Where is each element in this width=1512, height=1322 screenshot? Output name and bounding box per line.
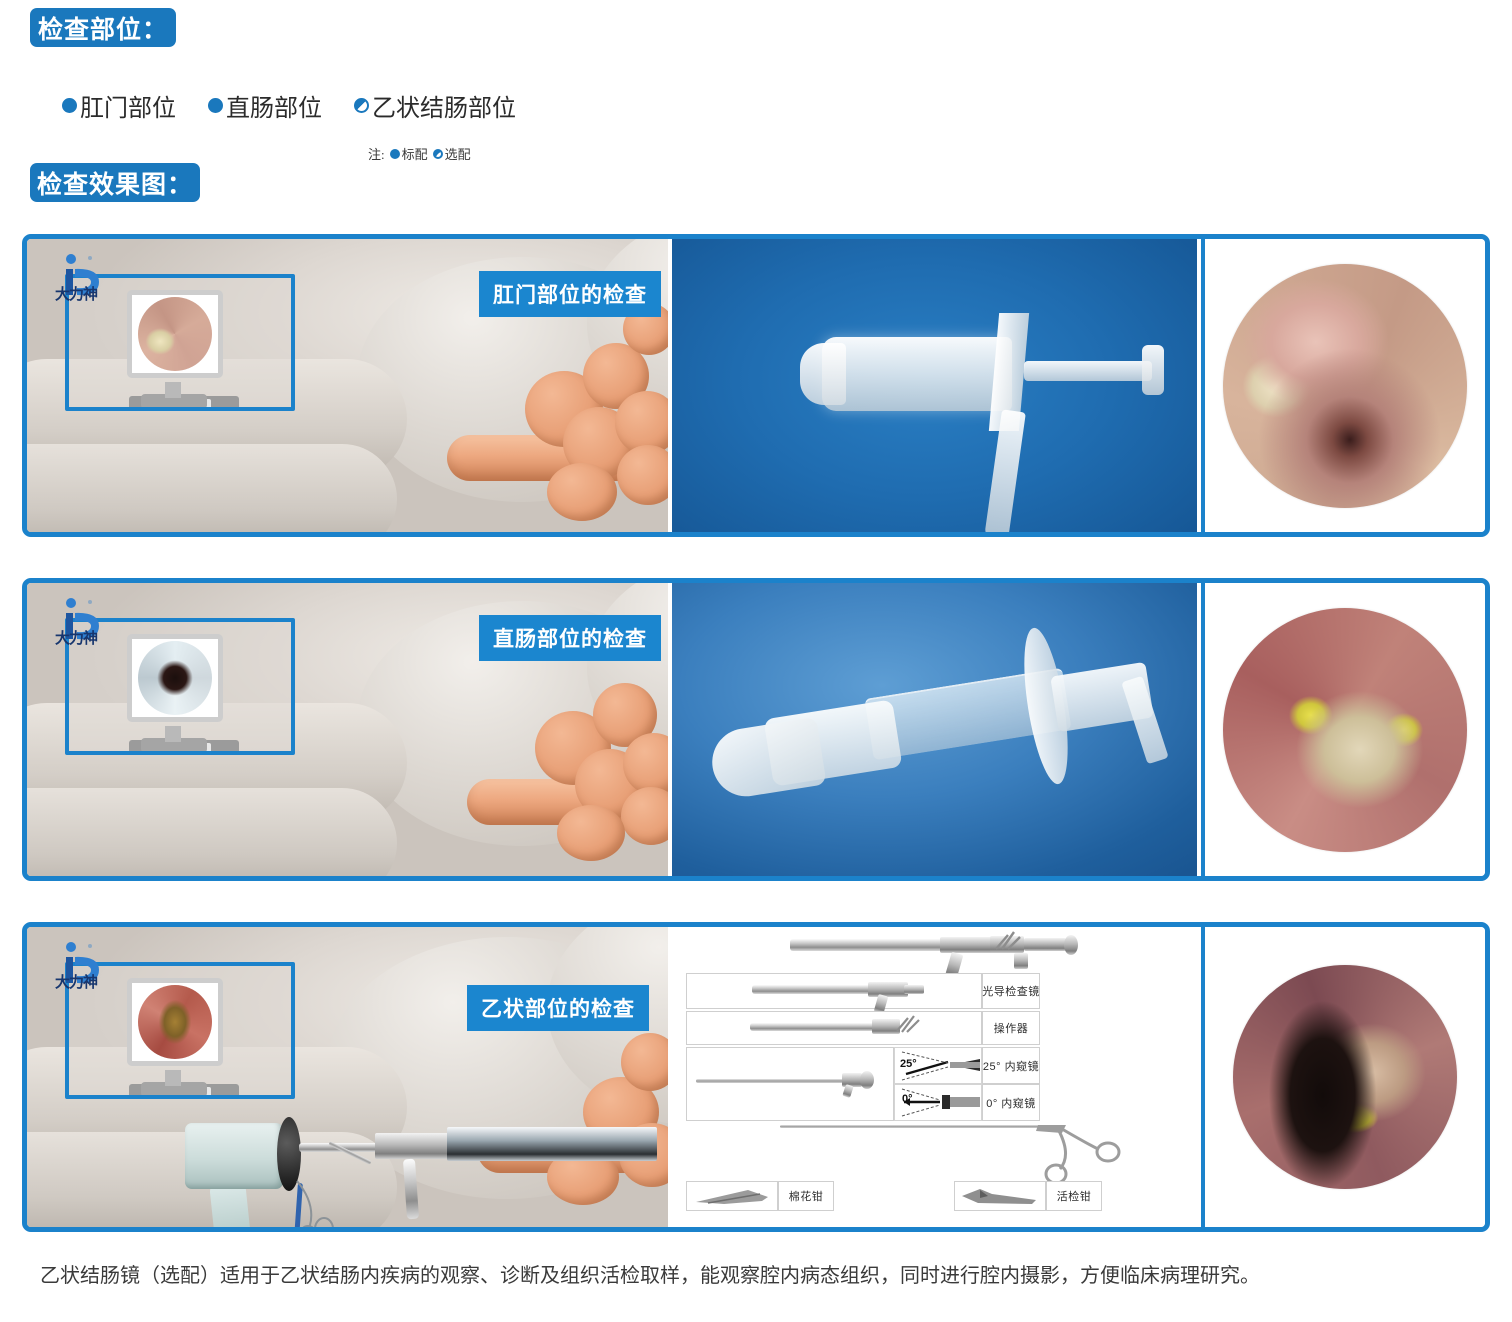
forceps-label: 棉花钳 — [778, 1181, 834, 1211]
biopsy-forceps-handle-icon — [1032, 1119, 1128, 1187]
assembly-shaft — [790, 939, 950, 951]
monitor-screen — [127, 634, 223, 722]
anoscope-obturator-knob — [1142, 345, 1164, 395]
instrument-label: 操作器 — [982, 1011, 1040, 1045]
sigmoid-endoscopic-photo — [1201, 927, 1485, 1227]
site-label: 肛门部位 — [80, 88, 176, 123]
manipulator-shaft — [750, 1023, 878, 1031]
panel-caption-badge: 乙状部位的检查 — [467, 985, 649, 1031]
angle-value-25: 25° — [900, 1058, 917, 1070]
forceps-label: 活检钳 — [1046, 1181, 1102, 1211]
endoscopic-image-circle — [1223, 608, 1467, 852]
examination-panel-sigmoid: 大力神 乙状部位的检查 — [22, 922, 1490, 1232]
anoscope-obturator — [1024, 361, 1152, 381]
monitor-stand — [165, 726, 181, 742]
intestine-loop — [547, 463, 617, 521]
examination-panel-anus: 大力神 肛门部位的检查 — [22, 234, 1490, 537]
disposable-rectoscope-photo — [668, 583, 1201, 876]
legend-optional-label: 选配 — [445, 144, 471, 163]
assembly-eyepiece — [1064, 935, 1078, 955]
anoscope-barrel — [822, 337, 1012, 411]
monitor-stand — [165, 1070, 181, 1086]
product-page: 检查部位： 肛门部位 直肠部位 乙状结肠部位 注: 标配 选配 检查效果图： — [0, 0, 1512, 1322]
instrument-label: 光导检查镜 — [982, 973, 1040, 1009]
biopsy-forceps-icon — [958, 1185, 1042, 1207]
monitor-screen — [127, 978, 223, 1066]
legend-prefix: 注: — [368, 144, 385, 163]
monitor-screen — [127, 290, 223, 378]
light-guide-shaft — [752, 985, 874, 994]
manipulator-claw-icon — [894, 1013, 930, 1037]
cotton-forceps-icon — [690, 1185, 774, 1207]
site-label: 乙状结肠部位 — [372, 88, 516, 123]
monitor-endoscopic-view — [138, 985, 212, 1059]
sigmoidoscope-instrument-diagram: 光导检查镜 操作器 — [668, 927, 1201, 1227]
brand-name-text: 大力神 — [55, 627, 97, 648]
site-item-sigmoid-colon: 乙状结肠部位 — [354, 88, 516, 123]
body-leg-lower-shape — [27, 444, 397, 532]
intestine-loop — [557, 805, 625, 861]
body-leg-lower-shape — [27, 788, 397, 876]
monitor-endoscopic-view — [138, 641, 212, 715]
endoscope-eyecup — [860, 1071, 874, 1089]
assembly-body — [940, 937, 994, 953]
forceps-loop-icon — [291, 1177, 351, 1227]
assembly-light-post — [1014, 953, 1028, 969]
anoscope-tip — [800, 343, 846, 405]
endoscopic-image-circle — [1233, 965, 1457, 1189]
section-heading-examination-sites: 检查部位： — [30, 8, 176, 47]
optional-config-dot-icon — [354, 98, 369, 113]
legend-standard-label: 标配 — [402, 144, 428, 163]
panel-caption-badge: 肛门部位的检查 — [479, 271, 661, 317]
product-description-note: 乙状结肠镜（选配）适用于乙状结肠内疾病的观察、诊断及组织活检取样，能观察腔内病态… — [40, 1262, 1480, 1290]
brand-name-text: 大力神 — [55, 283, 97, 304]
site-item-anus: 肛门部位 — [62, 88, 176, 123]
claw-valve-icon — [992, 929, 1032, 955]
standard-config-dot-icon — [208, 98, 223, 113]
rectum-endoscopic-photo — [1201, 583, 1485, 876]
anus-endoscopic-photo — [1201, 239, 1485, 532]
site-label: 直肠部位 — [226, 88, 322, 123]
angle-value-0: 0° — [902, 1093, 913, 1105]
light-guide-body — [868, 982, 908, 997]
light-guide-eyepiece — [904, 985, 924, 994]
monitor-endoscopic-view — [138, 297, 212, 371]
examination-panel-rectum: 大力神 直肠部位的检查 — [22, 578, 1490, 881]
monitor-stand — [165, 382, 181, 398]
optional-config-dot-icon — [433, 149, 443, 159]
examination-sites-list: 肛门部位 直肠部位 乙状结肠部位 — [62, 88, 516, 123]
anus-examination-illustration: 大力神 肛门部位的检查 — [27, 239, 668, 532]
legend-standard: 标配 — [390, 144, 428, 163]
sigmoidoscope-outer-tube — [447, 1127, 657, 1161]
legend-optional: 选配 — [433, 144, 471, 163]
site-item-rectum: 直肠部位 — [208, 88, 322, 123]
disposable-anoscope-photo — [668, 239, 1201, 532]
config-legend: 注: 标配 选配 — [368, 144, 471, 163]
panel-caption-badge: 直肠部位的检查 — [479, 615, 661, 661]
sigmoidoscope-connector — [375, 1133, 451, 1159]
biopsy-forceps-shaft — [780, 1125, 1050, 1128]
section-heading-examination-results: 检查效果图： — [30, 163, 200, 202]
endoscope-thin-shaft — [696, 1079, 846, 1083]
sigmoid-examination-illustration: 大力神 乙状部位的检查 — [27, 927, 668, 1227]
endoscopic-image-circle — [1223, 264, 1467, 508]
instrument-label: 25° 内窥镜 — [982, 1047, 1040, 1084]
standard-config-dot-icon — [390, 149, 400, 159]
standard-config-dot-icon — [62, 98, 77, 113]
instrument-label: 0° 内窥镜 — [982, 1084, 1040, 1121]
brand-name-text: 大力神 — [55, 971, 97, 992]
endoscope-camera-head — [185, 1123, 283, 1189]
rectum-examination-illustration: 大力神 直肠部位的检查 — [27, 583, 668, 876]
instrument-diagram-canvas: 光导检查镜 操作器 — [672, 927, 1197, 1227]
